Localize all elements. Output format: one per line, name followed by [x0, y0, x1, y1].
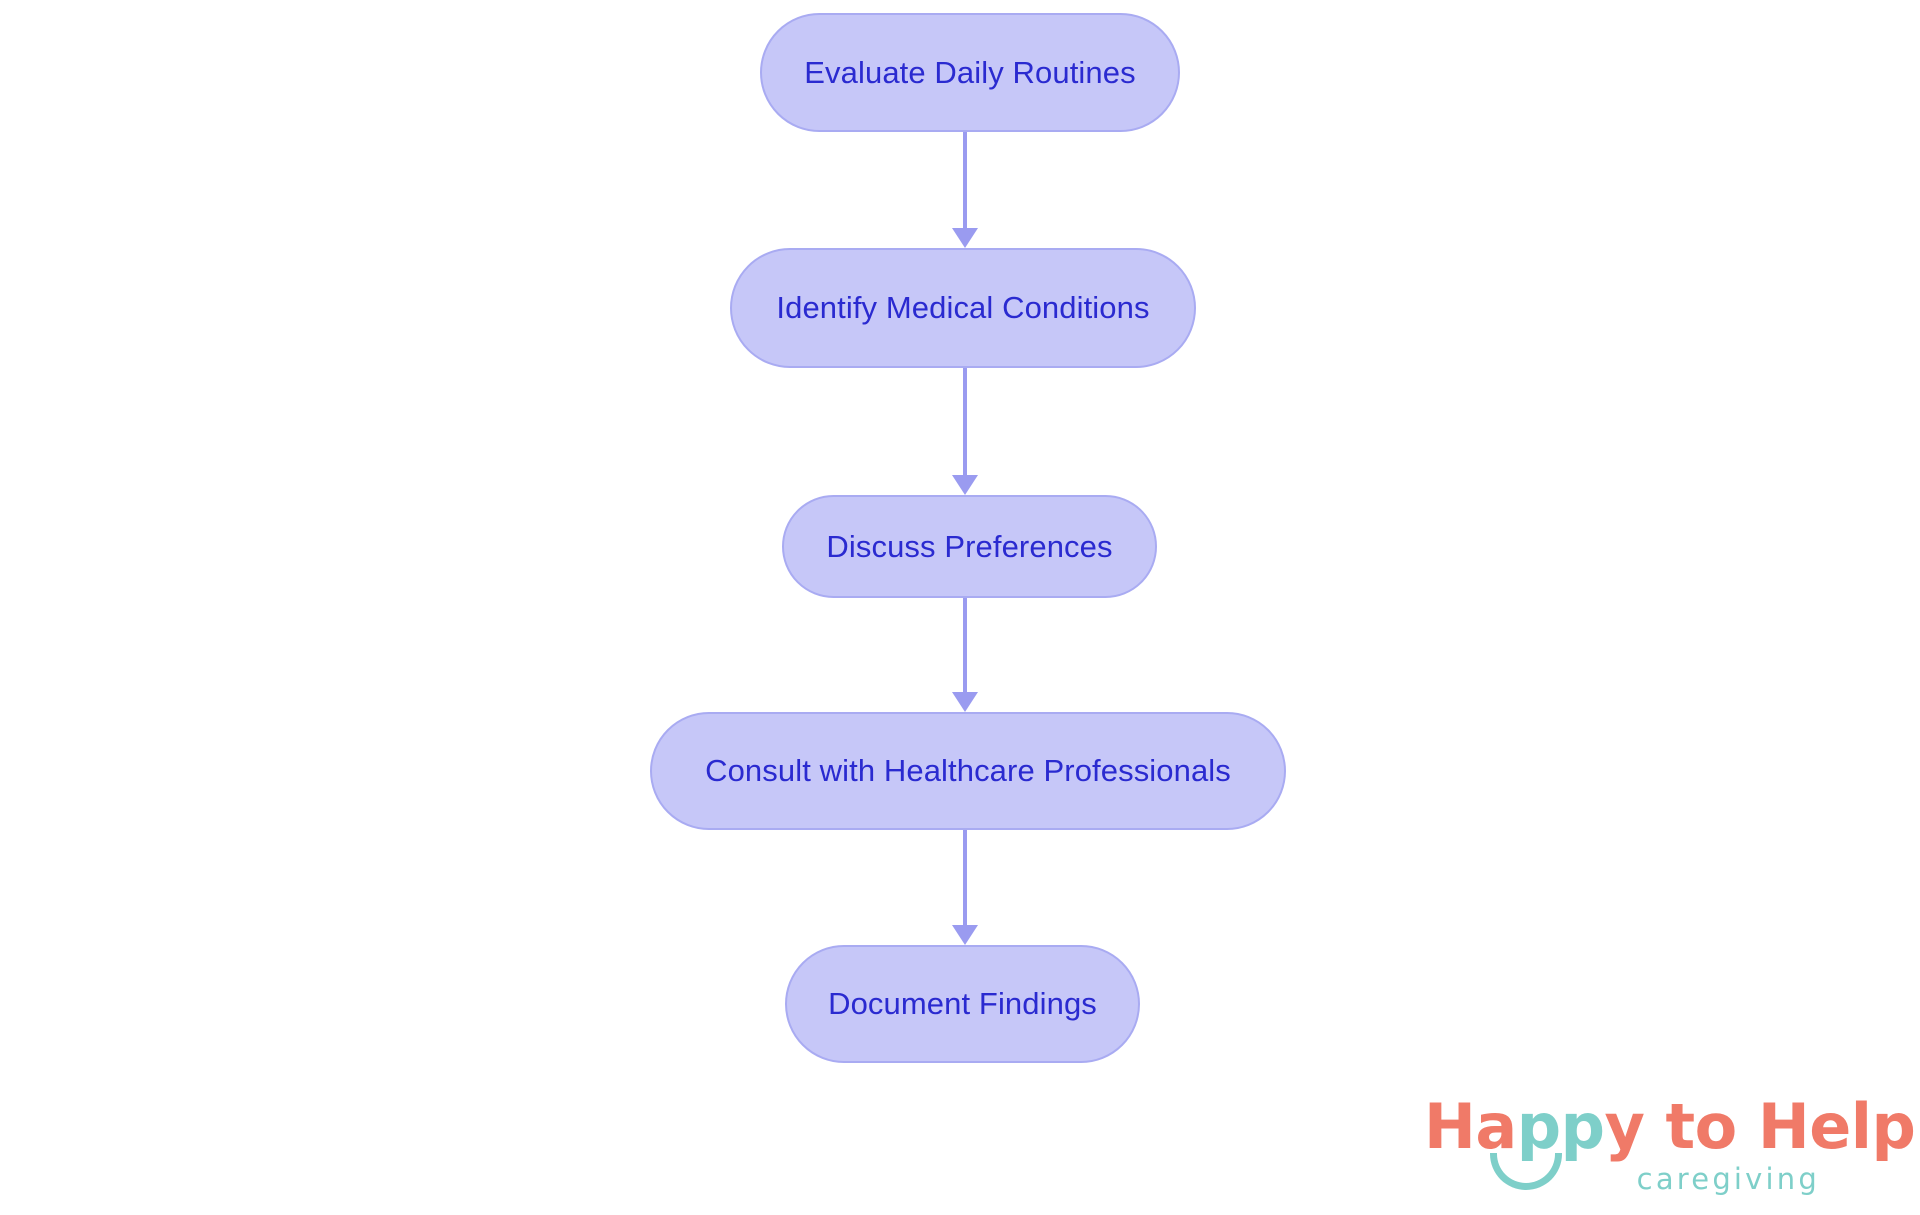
flow-node-identify-medical-conditions[interactable]: Identify Medical Conditions — [730, 248, 1196, 368]
flow-node-document-findings[interactable]: Document Findings — [785, 945, 1140, 1063]
logo-word-to-help: to Help — [1644, 1090, 1915, 1163]
flow-edge-2-arrowhead-icon — [952, 475, 978, 495]
flow-node-label: Evaluate Daily Routines — [804, 55, 1135, 91]
flow-node-consult-with-healthcare-professionals[interactable]: Consult with Healthcare Professionals — [650, 712, 1286, 830]
flowchart-canvas: Evaluate Daily Routines Identify Medical… — [0, 0, 1920, 1215]
flow-node-label: Identify Medical Conditions — [776, 290, 1149, 326]
flow-edge-3-arrowhead-icon — [952, 692, 978, 712]
logo-word-y: y — [1605, 1090, 1645, 1163]
logo-word-pp: pp — [1517, 1090, 1605, 1163]
flow-node-discuss-preferences[interactable]: Discuss Preferences — [782, 495, 1157, 598]
logo-tagline: caregiving — [1637, 1162, 1820, 1196]
flow-edge-3-line — [963, 598, 967, 692]
logo-word-ha: Ha — [1424, 1090, 1517, 1163]
flow-node-label: Discuss Preferences — [826, 529, 1112, 565]
flow-node-evaluate-daily-routines[interactable]: Evaluate Daily Routines — [760, 13, 1180, 132]
flow-node-label: Document Findings — [828, 986, 1097, 1022]
logo-wordmark: Happy to Help — [1424, 1096, 1915, 1158]
flow-edge-1-line — [963, 132, 967, 228]
flowchart: Evaluate Daily Routines Identify Medical… — [0, 0, 1920, 1215]
flow-edge-2-line — [963, 368, 967, 475]
flow-edge-4-line — [963, 830, 967, 925]
flow-node-label: Consult with Healthcare Professionals — [705, 753, 1231, 789]
flow-edge-4-arrowhead-icon — [952, 925, 978, 945]
brand-logo: Happy to Help caregiving — [1424, 1096, 1824, 1208]
flow-edge-1-arrowhead-icon — [952, 228, 978, 248]
